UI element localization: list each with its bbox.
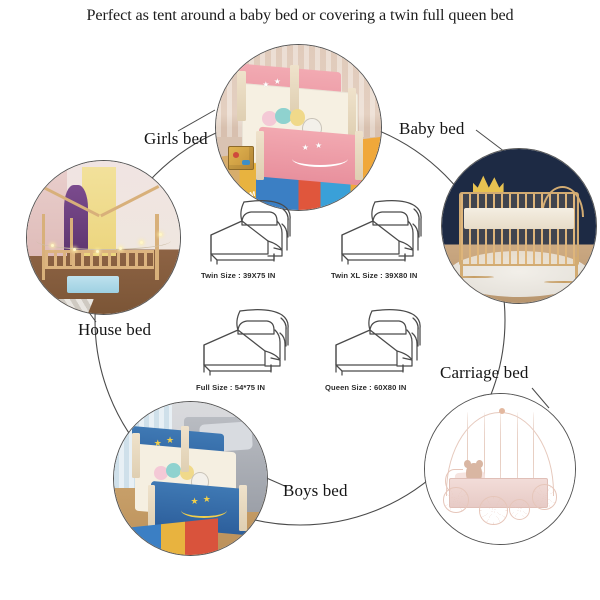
photo-carriage-bed	[424, 393, 576, 545]
photo-baby-bed	[441, 148, 597, 304]
photo-house-bed	[26, 160, 181, 315]
bed-diagram-queen	[322, 305, 440, 379]
label-girls-bed: Girls bed	[144, 129, 208, 149]
bed-size-label-twin: Twin Size : 39X75 IN	[201, 271, 275, 280]
label-house-bed: House bed	[78, 320, 151, 340]
bed-diagram-twin-xl	[328, 196, 440, 268]
product-infographic: Perfect as tent around a baby bed or cov…	[0, 0, 600, 600]
bed-size-label-twin-xl: Twin XL Size : 39X80 IN	[331, 271, 417, 280]
label-baby-bed: Baby bed	[399, 119, 464, 139]
photo-boys-bed: ★ ★ ★ ★	[113, 401, 268, 556]
page-title: Perfect as tent around a baby bed or cov…	[0, 6, 600, 25]
photo-girls-bed: Y M ★ ★ ★ ★	[215, 44, 382, 211]
bed-diagram-twin	[197, 196, 309, 268]
label-boys-bed: Boys bed	[283, 481, 348, 501]
bed-size-label-queen: Queen Size : 60X80 IN	[325, 383, 406, 392]
label-carriage-bed: Carriage bed	[440, 363, 529, 383]
bed-diagram-full	[190, 305, 308, 379]
bed-size-label-full: Full Size : 54*75 IN	[196, 383, 265, 392]
